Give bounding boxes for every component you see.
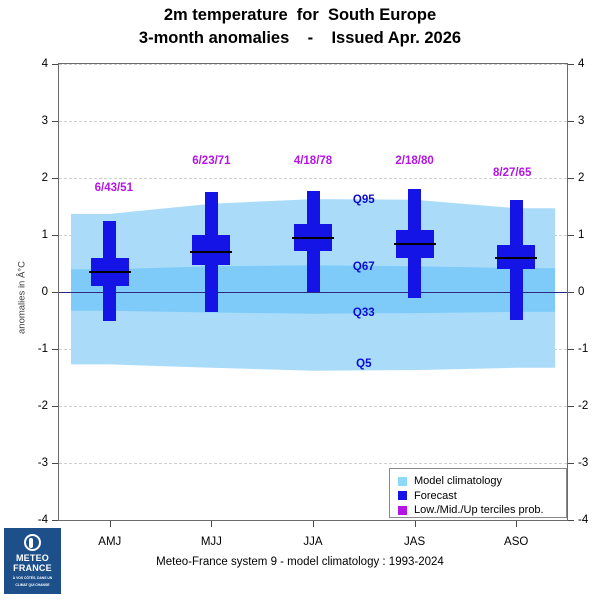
y-tick-left	[52, 64, 58, 65]
tercile-prob-aso: 8/27/65	[493, 167, 531, 179]
y-tick-label-right: 2	[578, 172, 584, 184]
y-tick-label-left: 0	[42, 286, 48, 298]
logo-tagline-line-2: CLIMAT QUI CHANGE	[4, 583, 61, 587]
y-tick-left	[52, 406, 58, 407]
y-tick-left	[52, 349, 58, 350]
forecast-median-aso	[495, 257, 537, 259]
meteo-france-logo: METEO FRANCE À VOS CÔTÉS, DANS UN CLIMAT…	[4, 528, 61, 594]
y-tick-label-right: -4	[578, 514, 588, 526]
y-tick-label-left: -3	[38, 457, 48, 469]
y-tick-label-right: 0	[578, 286, 584, 298]
logo-tagline-line-1: À VOS CÔTÉS, DANS UN	[4, 576, 61, 580]
x-tick-label-jja: JJA	[303, 536, 322, 548]
tercile-prob-amj: 6/43/51	[95, 182, 133, 194]
y-tick-label-left: 1	[42, 229, 48, 241]
legend-label: Forecast	[414, 490, 457, 502]
x-tick	[415, 521, 416, 527]
y-tick-label-left: 2	[42, 172, 48, 184]
legend-item: Low./Mid./Up terciles prob.	[398, 503, 566, 518]
forecast-median-amj	[89, 271, 131, 273]
x-tick	[211, 521, 212, 527]
y-tick-label-right: -3	[578, 457, 588, 469]
legend-item: Forecast	[398, 489, 566, 504]
plot-inner: Q95Q67Q33Q5 6/43/516/23/714/18/782/18/80…	[59, 64, 567, 520]
legend-swatch-icon	[398, 506, 407, 515]
forecast-box-mjj	[192, 235, 230, 265]
title-line-1: 2m temperature for South Europe	[0, 4, 600, 27]
zero-line	[59, 292, 567, 293]
legend: Model climatologyForecastLow./Mid./Up te…	[389, 468, 567, 518]
legend-label: Model climatology	[414, 475, 502, 487]
y-tick-label-left: -1	[38, 343, 48, 355]
meteo-france-emblem-icon	[24, 534, 41, 551]
chart-page: 2m temperature for South Europe 3-month …	[0, 0, 600, 600]
forecast-median-mjj	[190, 251, 232, 253]
quantile-label-q95: Q95	[353, 194, 375, 206]
y-axis-title: anomalies in Â°C	[17, 238, 28, 358]
x-tick-label-jas: JAS	[404, 536, 425, 548]
y-tick-left	[52, 178, 58, 179]
quantile-label-q67: Q67	[353, 261, 375, 273]
legend-label: Low./Mid./Up terciles prob.	[414, 504, 544, 516]
y-tick-right	[568, 406, 574, 407]
x-tick-label-mjj: MJJ	[201, 536, 222, 548]
legend-item: Model climatology	[398, 474, 566, 489]
y-tick-label-right: 3	[578, 115, 584, 127]
legend-swatch-icon	[398, 491, 407, 500]
y-tick-right	[568, 349, 574, 350]
y-tick-left	[52, 292, 58, 293]
y-tick-right	[568, 178, 574, 179]
y-tick-right	[568, 64, 574, 65]
y-tick-right	[568, 463, 574, 464]
page-title: 2m temperature for South Europe 3-month …	[0, 4, 600, 51]
y-tick-left	[52, 463, 58, 464]
logo-name-line-2: FRANCE	[4, 564, 61, 574]
y-tick-right	[568, 235, 574, 236]
y-tick-right	[568, 121, 574, 122]
y-tick-label-right: 4	[578, 58, 584, 70]
y-tick-label-left: 4	[42, 58, 48, 70]
tercile-prob-jas: 2/18/80	[395, 155, 433, 167]
x-tick-label-amj: AMJ	[98, 536, 121, 548]
y-tick-right	[568, 520, 574, 521]
quantile-label-q33: Q33	[353, 307, 375, 319]
y-tick-label-right: -2	[578, 400, 588, 412]
title-line-2: 3-month anomalies - Issued Apr. 2026	[0, 27, 600, 50]
x-tick	[516, 521, 517, 527]
tercile-prob-jja: 4/18/78	[294, 155, 332, 167]
forecast-median-jja	[292, 237, 334, 239]
x-tick	[110, 521, 111, 527]
x-tick	[313, 521, 314, 527]
plot-area: Q95Q67Q33Q5 6/43/516/23/714/18/782/18/80…	[58, 63, 568, 521]
y-tick-label-right: -1	[578, 343, 588, 355]
y-tick-label-left: -4	[38, 514, 48, 526]
y-tick-right	[568, 292, 574, 293]
forecast-median-jas	[394, 243, 436, 245]
footer-note: Meteo-France system 9 - model climatolog…	[0, 556, 600, 568]
y-tick-left	[52, 520, 58, 521]
tercile-prob-mjj: 6/23/71	[192, 155, 230, 167]
y-tick-label-left: -2	[38, 400, 48, 412]
y-tick-left	[52, 121, 58, 122]
x-tick-label-aso: ASO	[504, 536, 528, 548]
legend-swatch-icon	[398, 477, 407, 486]
y-tick-left	[52, 235, 58, 236]
quantile-label-q5: Q5	[356, 358, 371, 370]
y-tick-label-right: 1	[578, 229, 584, 241]
y-tick-label-left: 3	[42, 115, 48, 127]
